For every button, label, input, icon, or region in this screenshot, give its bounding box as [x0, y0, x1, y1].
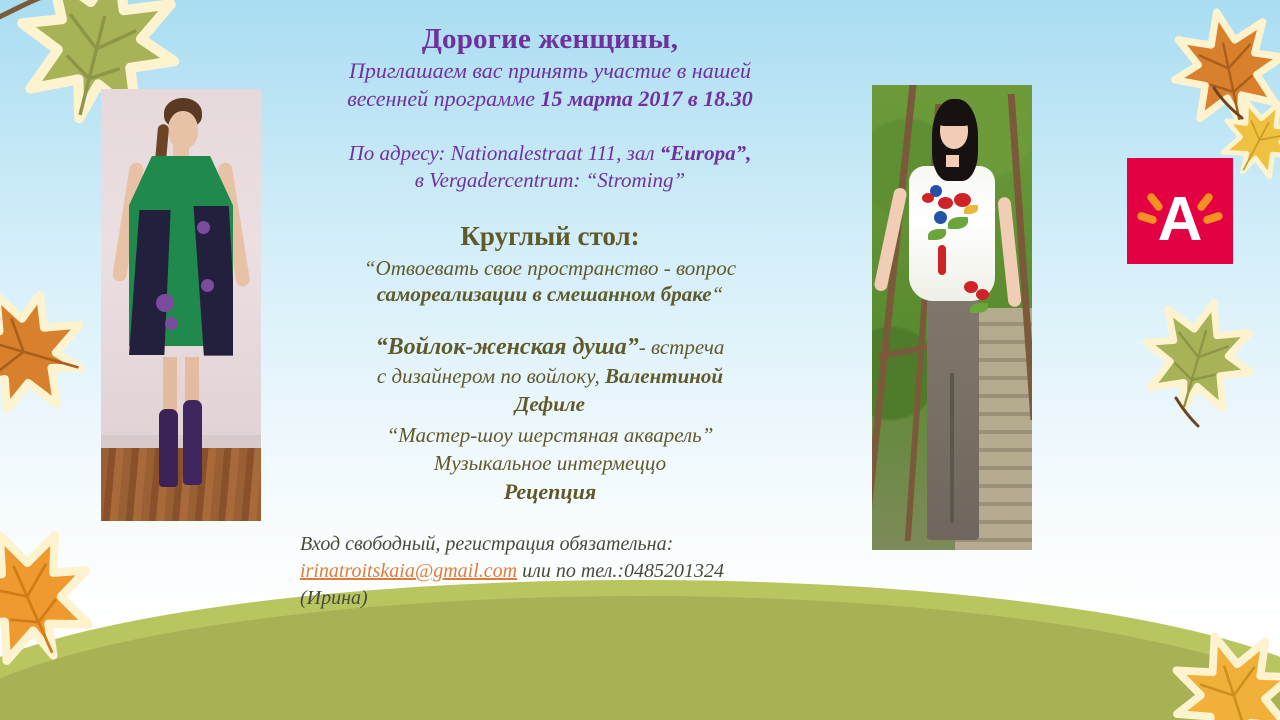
leaf-bottom-left-orange-icon: [0, 524, 96, 664]
roundtable-line2: самореализации в смешанном браке: [377, 282, 712, 306]
address-line1-prefix: По адресу: Nationalestraat 111, зал: [349, 141, 660, 165]
invite-line2-prefix: весенней программе: [347, 86, 535, 111]
event-date: 15 марта 2017 в 18.30: [541, 86, 753, 111]
leaf-stem-top-left-icon: [0, 0, 58, 26]
address-paragraph: По адресу: Nationalestraat 111, зал “Eur…: [280, 140, 820, 195]
program-list: “Мастер-шоу шерстяная акварель” Музыкаль…: [280, 422, 820, 507]
roundtable-line2-suffix: “: [712, 282, 724, 306]
address-line2: в Vergadercentrum: “Stroming”: [415, 168, 685, 192]
invite-line1: Приглашаем вас принять участие в нашей: [349, 58, 751, 83]
footer-name: (Ирина): [300, 587, 368, 609]
program-line1: “Мастер-шоу шерстяная акварель”: [387, 423, 714, 447]
felt-line3: Дефиле: [515, 392, 585, 416]
invite-paragraph: Приглашаем вас принять участие в нашей в…: [280, 57, 820, 113]
email-link[interactable]: irinatroitskaia@gmail.com: [300, 560, 517, 582]
program-line3: Рецепция: [504, 479, 596, 504]
footer-contact: Вход свободный, регистрация обязательна:…: [280, 531, 820, 611]
felt-paragraph: “Войлок-женская душа”- встреча с дизайне…: [280, 332, 820, 418]
antwerp-logo: A: [1127, 158, 1233, 264]
roundtable-line1: “Отвоевать свое пространство - вопрос: [364, 256, 736, 280]
leaf-bottom-right-yellow-icon: [1168, 628, 1280, 720]
felt-designer: Валентиной: [605, 364, 723, 388]
poster-text-column: Дорогие женщины, Приглашаем вас принять …: [280, 22, 820, 612]
photo-model-felt-blouse: [872, 85, 1032, 550]
footer-phone: или по тел.:0485201324: [517, 560, 724, 582]
leaf-stem-mid-right-icon: [1172, 396, 1208, 430]
roundtable-body: “Отвоевать свое пространство - вопрос са…: [280, 255, 820, 309]
poster-title: Дорогие женщины,: [280, 22, 820, 56]
logo-letter: A: [1158, 185, 1203, 254]
felt-line2-prefix: с дизайнером по войлоку,: [377, 364, 605, 388]
address-venue: “Europa”,: [660, 141, 752, 165]
felt-title-suffix: - встреча: [639, 335, 725, 359]
footer-line1: Вход свободный, регистрация обязательна:: [300, 533, 673, 555]
poster-canvas: A Дорогие женщины, Приглашаем вас принят…: [0, 0, 1280, 720]
felt-title: “Войлок-женская душа”: [376, 334, 639, 360]
program-line2: Музыкальное интермеццо: [434, 451, 666, 475]
roundtable-heading: Круглый стол:: [280, 220, 820, 252]
leaf-mid-left-orange-icon: [0, 286, 86, 416]
photo-model-felt-dress: [101, 89, 261, 521]
